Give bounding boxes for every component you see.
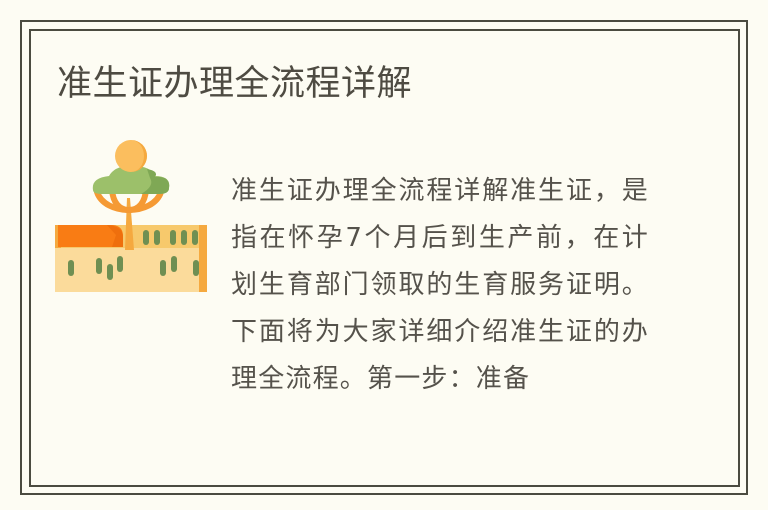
- ground-right-edge: [199, 225, 207, 292]
- page-title: 准生证办理全流程详解: [57, 62, 412, 106]
- article-page: 准生证办理全流程详解: [0, 0, 768, 510]
- ground-lower-band: [55, 248, 207, 292]
- article-body: 准生证办理全流程详解准生证，是指在怀孕7个月后到生产前，在计划生育部门领取的生育…: [231, 168, 649, 403]
- tree-trunk: [125, 198, 134, 250]
- savanna-landscape-illustration: [55, 140, 207, 292]
- savanna-landscape-svg: [55, 140, 207, 292]
